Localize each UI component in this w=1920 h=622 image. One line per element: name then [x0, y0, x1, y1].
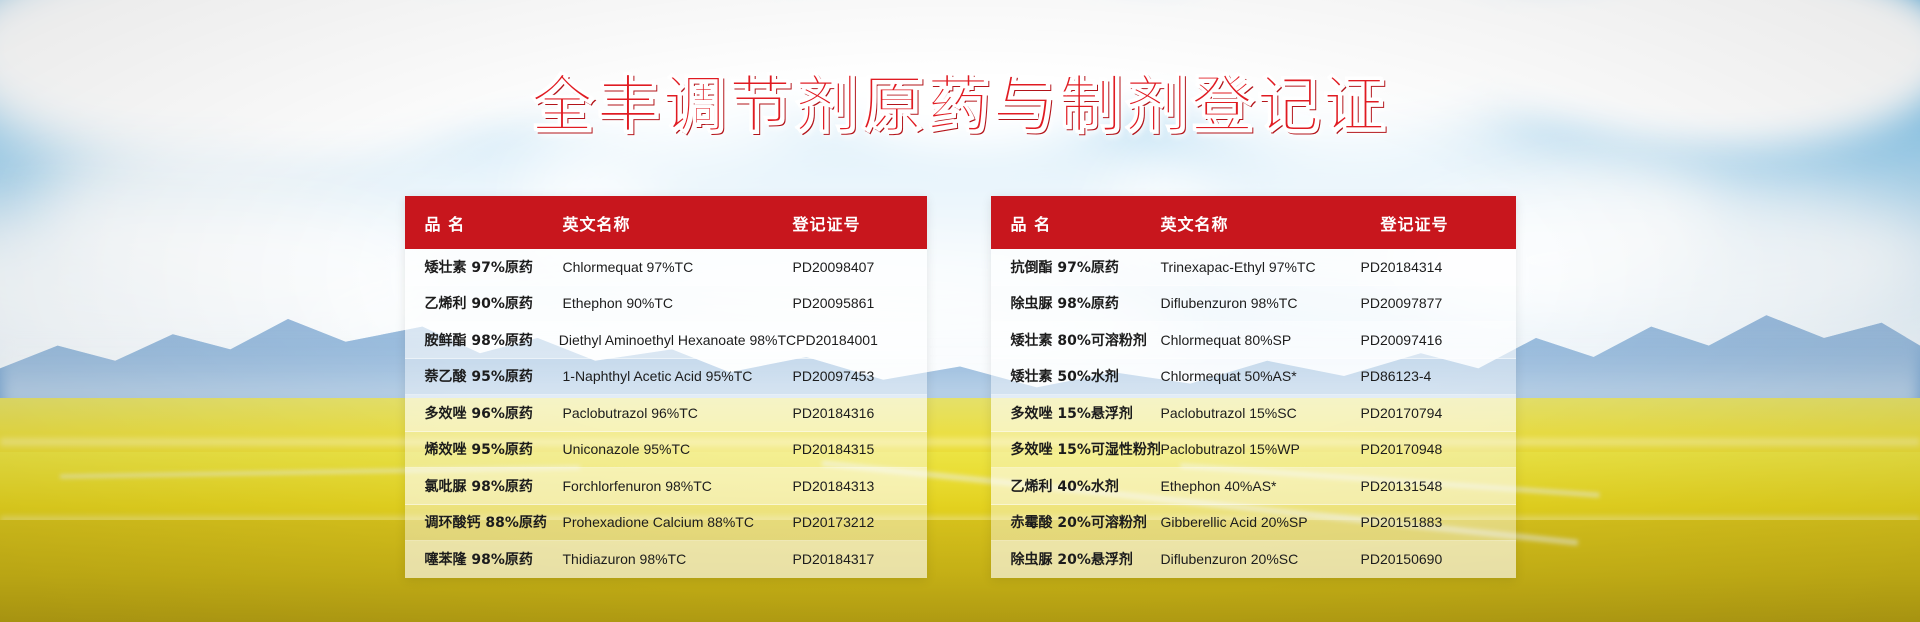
column-header-english: 英文名称 [563, 211, 793, 235]
cell-name: 萘乙酸 95%原药 [405, 366, 563, 386]
cell-english: Chlormequat 80%SP [1161, 332, 1361, 348]
cell-name: 多效唑 15%可湿性粉剂 [991, 439, 1161, 459]
cell-name: 调环酸钙 88%原药 [405, 512, 563, 532]
cell-reg: PD20184313 [793, 478, 927, 494]
left-table-header-row: 品 名 英文名称 登记证号 [405, 196, 927, 249]
cell-name: 乙烯利 40%水剂 [991, 476, 1161, 496]
cell-name: 乙烯利 90%原药 [405, 293, 563, 313]
cell-reg: PD20095861 [793, 295, 927, 311]
table-row[interactable]: 抗倒酯 97%原药Trinexapac-Ethyl 97%TCPD2018431… [991, 249, 1516, 286]
cell-english: Gibberellic Acid 20%SP [1161, 514, 1361, 530]
cell-english: Uniconazole 95%TC [563, 441, 793, 457]
table-row[interactable]: 矮壮素 80%可溶粉剂Chlormequat 80%SPPD20097416 [991, 322, 1516, 359]
cell-reg: PD20151883 [1361, 514, 1496, 530]
right-table-header-row: 品 名 英文名称 登记证号 [991, 196, 1516, 249]
cell-reg: PD20184001 [796, 332, 926, 348]
cell-english: Prohexadione Calcium 88%TC [563, 514, 793, 530]
cell-reg: PD20184314 [1361, 259, 1496, 275]
table-row[interactable]: 矮壮素 97%原药Chlormequat 97%TCPD20098407 [405, 249, 927, 286]
page-title: 全丰调节剂原药与制剂登记证 [531, 54, 1389, 144]
column-header-english: 英文名称 [1161, 211, 1381, 235]
cell-name: 赤霉酸 20%可溶粉剂 [991, 512, 1161, 532]
table-row[interactable]: 氯吡脲 98%原药Forchlorfenuron 98%TCPD20184313 [405, 468, 927, 505]
table-row[interactable]: 调环酸钙 88%原药Prohexadione Calcium 88%TCPD20… [405, 505, 927, 542]
table-row[interactable]: 胺鲜酯 98%原药Diethyl Aminoethyl Hexanoate 98… [405, 322, 927, 359]
table-row[interactable]: 乙烯利 40%水剂Ethephon 40%AS*PD20131548 [991, 468, 1516, 505]
cell-english: Paclobutrazol 15%SC [1161, 405, 1361, 421]
table-row[interactable]: 噻苯隆 98%原药Thidiazuron 98%TCPD20184317 [405, 541, 927, 578]
cell-name: 抗倒酯 97%原药 [991, 257, 1161, 277]
cell-reg: PD20184317 [793, 551, 927, 567]
cell-name: 除虫脲 20%悬浮剂 [991, 549, 1161, 569]
cell-reg: PD20097453 [793, 368, 927, 384]
cell-reg: PD20170794 [1361, 405, 1496, 421]
column-header-reg: 登记证号 [793, 211, 927, 235]
table-row[interactable]: 除虫脲 98%原药Diflubenzuron 98%TCPD20097877 [991, 286, 1516, 323]
cell-name: 矮壮素 80%可溶粉剂 [991, 330, 1161, 350]
cell-english: Paclobutrazol 15%WP [1161, 441, 1361, 457]
table-row[interactable]: 多效唑 15%悬浮剂Paclobutrazol 15%SCPD20170794 [991, 395, 1516, 432]
table-row[interactable]: 多效唑 96%原药Paclobutrazol 96%TCPD20184316 [405, 395, 927, 432]
cell-reg: PD20184315 [793, 441, 927, 457]
cell-name: 胺鲜酯 98%原药 [405, 330, 559, 350]
cell-english: Trinexapac-Ethyl 97%TC [1161, 259, 1361, 275]
cell-reg: PD20131548 [1361, 478, 1496, 494]
table-row[interactable]: 矮壮素 50%水剂Chlormequat 50%AS*PD86123-4 [991, 359, 1516, 396]
cell-english: Ethephon 90%TC [563, 295, 793, 311]
cell-reg: PD20098407 [793, 259, 927, 275]
cell-reg: PD20097877 [1361, 295, 1496, 311]
table-row[interactable]: 乙烯利 90%原药Ethephon 90%TCPD20095861 [405, 286, 927, 323]
cell-english: Chlormequat 50%AS* [1161, 368, 1361, 384]
cell-english: Thidiazuron 98%TC [563, 551, 793, 567]
cell-reg: PD86123-4 [1361, 368, 1496, 384]
cell-name: 除虫脲 98%原药 [991, 293, 1161, 313]
left-table-body: 矮壮素 97%原药Chlormequat 97%TCPD20098407 乙烯利… [405, 249, 927, 578]
cell-english: Forchlorfenuron 98%TC [563, 478, 793, 494]
column-header-name: 品 名 [991, 211, 1161, 235]
cell-name: 氯吡脲 98%原药 [405, 476, 563, 496]
table-row[interactable]: 赤霉酸 20%可溶粉剂Gibberellic Acid 20%SPPD20151… [991, 505, 1516, 542]
cell-english: Diflubenzuron 98%TC [1161, 295, 1361, 311]
cell-english: Chlormequat 97%TC [563, 259, 793, 275]
cell-english: Diethyl Aminoethyl Hexanoate 98%TC [559, 332, 796, 348]
table-row[interactable]: 萘乙酸 95%原药1-Naphthyl Acetic Acid 95%TCPD2… [405, 359, 927, 396]
title-area: 全丰调节剂原药与制剂登记证 [0, 54, 1920, 144]
table-row[interactable]: 多效唑 15%可湿性粉剂Paclobutrazol 15%WPPD2017094… [991, 432, 1516, 469]
cell-name: 多效唑 96%原药 [405, 403, 563, 423]
cell-name: 多效唑 15%悬浮剂 [991, 403, 1161, 423]
cell-name: 噻苯隆 98%原药 [405, 549, 563, 569]
cell-reg: PD20170948 [1361, 441, 1496, 457]
right-table-panel: 品 名 英文名称 登记证号 抗倒酯 97%原药Trinexapac-Ethyl … [991, 196, 1516, 578]
cell-name: 烯效唑 95%原药 [405, 439, 563, 459]
cell-reg: PD20184316 [793, 405, 927, 421]
right-table-body: 抗倒酯 97%原药Trinexapac-Ethyl 97%TCPD2018431… [991, 249, 1516, 578]
cell-reg: PD20150690 [1361, 551, 1496, 567]
cell-english: 1-Naphthyl Acetic Acid 95%TC [563, 368, 793, 384]
tables-container: 品 名 英文名称 登记证号 矮壮素 97%原药Chlormequat 97%TC… [0, 196, 1920, 578]
cell-name: 矮壮素 97%原药 [405, 257, 563, 277]
cell-english: Diflubenzuron 20%SC [1161, 551, 1361, 567]
cell-reg: PD20097416 [1361, 332, 1496, 348]
cell-english: Ethephon 40%AS* [1161, 478, 1361, 494]
column-header-name: 品 名 [405, 211, 563, 235]
cell-english: Paclobutrazol 96%TC [563, 405, 793, 421]
left-table-panel: 品 名 英文名称 登记证号 矮壮素 97%原药Chlormequat 97%TC… [405, 196, 927, 578]
table-row[interactable]: 除虫脲 20%悬浮剂Diflubenzuron 20%SCPD20150690 [991, 541, 1516, 578]
cell-name: 矮壮素 50%水剂 [991, 366, 1161, 386]
column-header-reg: 登记证号 [1381, 211, 1516, 235]
cell-reg: PD20173212 [793, 514, 927, 530]
table-row[interactable]: 烯效唑 95%原药Uniconazole 95%TCPD20184315 [405, 432, 927, 469]
